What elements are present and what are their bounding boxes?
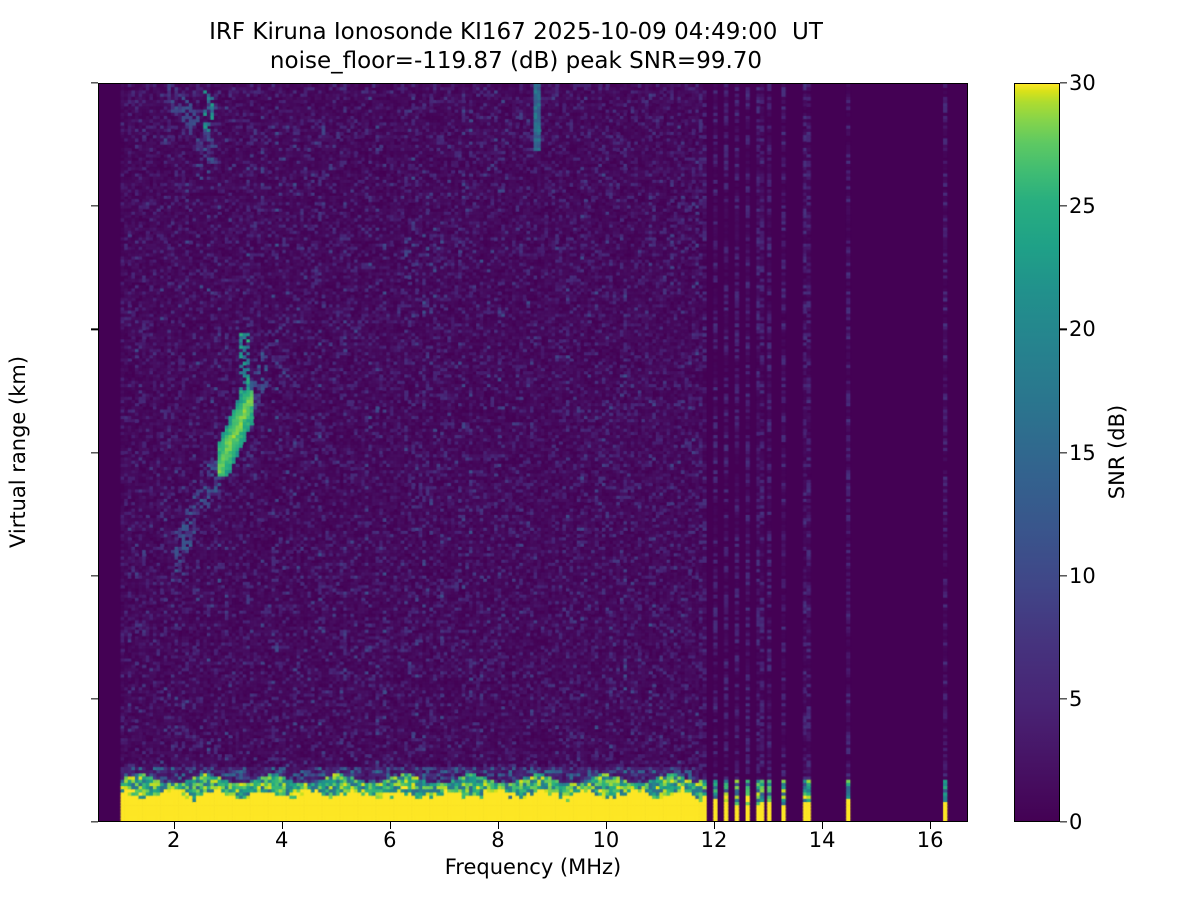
x-tick-label: 10: [593, 828, 620, 852]
x-tick-mark: [930, 822, 931, 829]
colorbar-tick-mark: [1060, 329, 1067, 330]
colorbar-tick-mark: [1060, 452, 1067, 453]
x-tick-label: 8: [491, 828, 504, 852]
colorbar-tick-mark: [1060, 206, 1067, 207]
ionogram-heatmap: [99, 84, 967, 821]
colorbar-label: SNR (dB): [1105, 405, 1129, 499]
x-axis-label: Frequency (MHz): [445, 855, 621, 879]
y-tick-mark: [91, 821, 98, 822]
x-tick-label: 16: [917, 828, 944, 852]
x-tick-mark: [822, 822, 823, 829]
x-tick-label: 4: [275, 828, 288, 852]
colorbar-tick-label: 5: [1069, 687, 1082, 711]
chart-title: IRF Kiruna Ionosonde KI167 2025-10-09 04…: [0, 18, 1032, 77]
x-tick-mark: [174, 822, 175, 829]
ionogram-figure: IRF Kiruna Ionosonde KI167 2025-10-09 04…: [0, 0, 1200, 900]
colorbar-tick-mark: [1060, 698, 1067, 699]
colorbar-tick-label: 15: [1069, 441, 1096, 465]
colorbar-tick-label: 0: [1069, 810, 1082, 834]
colorbar-tick-mark: [1060, 821, 1067, 822]
x-tick-mark: [390, 822, 391, 829]
colorbar: [1014, 83, 1060, 822]
x-tick-mark: [498, 822, 499, 829]
colorbar-tick-label: 25: [1069, 194, 1096, 218]
title-line-1: IRF Kiruna Ionosonde KI167 2025-10-09 04…: [0, 18, 1032, 47]
y-tick-mark: [91, 82, 98, 83]
ionogram-plot-area[interactable]: [98, 83, 968, 822]
x-tick-label: 12: [701, 828, 728, 852]
colorbar-tick-mark: [1060, 575, 1067, 576]
x-tick-label: 14: [809, 828, 836, 852]
y-tick-mark: [91, 329, 98, 330]
colorbar-tick-mark: [1060, 82, 1067, 83]
x-tick-mark: [714, 822, 715, 829]
y-axis-label: Virtual range (km): [6, 356, 30, 548]
colorbar-tick-label: 10: [1069, 564, 1096, 588]
x-tick-label: 2: [167, 828, 180, 852]
y-tick-mark: [91, 575, 98, 576]
colorbar-tick-label: 20: [1069, 317, 1096, 341]
colorbar-tick-label: 30: [1069, 71, 1096, 95]
x-tick-mark: [606, 822, 607, 829]
y-tick-mark: [91, 452, 98, 453]
x-tick-label: 6: [383, 828, 396, 852]
y-tick-mark: [91, 206, 98, 207]
title-line-2: noise_floor=-119.87 (dB) peak SNR=99.70: [0, 47, 1032, 76]
y-tick-mark: [91, 698, 98, 699]
x-tick-mark: [282, 822, 283, 829]
